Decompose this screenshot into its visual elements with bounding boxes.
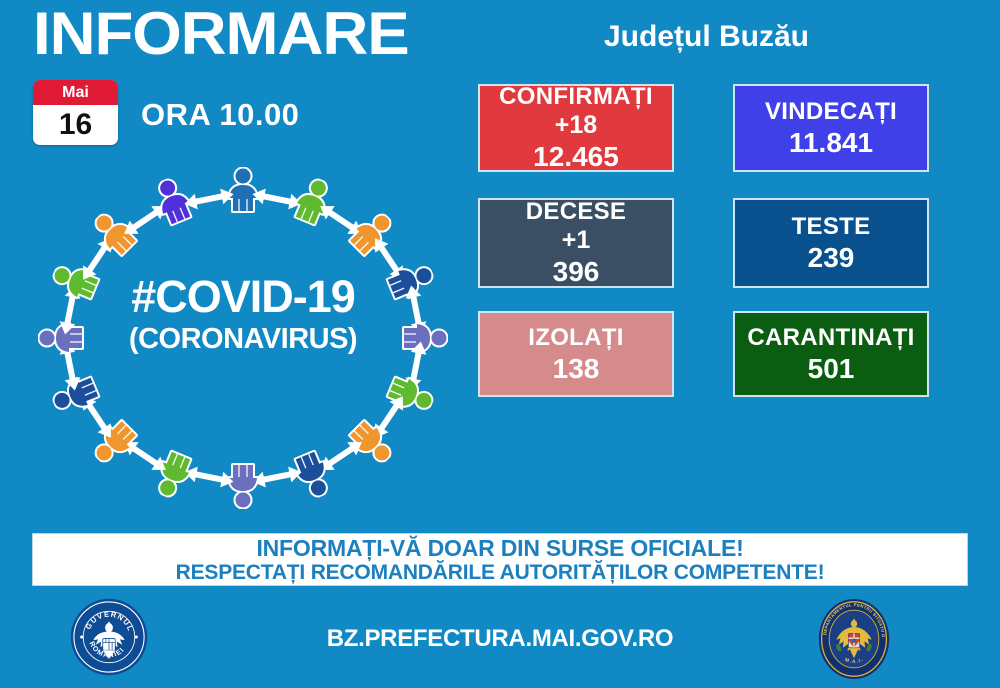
page-title: INFORMARE	[33, 2, 409, 66]
stat-value: 239	[808, 241, 855, 274]
stat-label: TESTE	[792, 213, 871, 241]
stat-value: 501	[808, 352, 855, 385]
stat-box-confirmai: CONFIRMAȚI+1812.465	[478, 84, 674, 172]
stat-label: DECESE	[526, 198, 627, 226]
infographic-canvas: INFORMARE Județul Buzău Mai 16 ORA 10.00…	[0, 0, 1000, 688]
guvernul-romaniei-logo: GUVERNUL ROMÂNIEI	[70, 598, 148, 676]
stat-label: VINDECAȚI	[765, 98, 897, 126]
stat-value: 12.465	[533, 140, 619, 173]
stat-box-vindecai: VINDECAȚI11.841	[733, 84, 929, 172]
covid-sub-text: (CORONAVIRUS)	[28, 322, 458, 356]
stat-delta: +18	[555, 111, 597, 140]
stat-value: 138	[553, 352, 600, 385]
stat-label: CONFIRMAȚI	[499, 83, 653, 111]
stat-box-izolai: IZOLAȚI138	[478, 311, 674, 397]
covid-circle-graphic: #COVID-19 (CORONAVIRUS)	[28, 168, 458, 508]
official-sources-banner: INFORMAȚI-VĂ DOAR DIN SURSE OFICIALE! RE…	[32, 533, 968, 586]
stat-box-teste: TESTE239	[733, 198, 929, 288]
calendar-icon: Mai 16	[33, 80, 118, 145]
stat-box-decese: DECESE+1396	[478, 198, 674, 288]
county-label: Județul Buzău	[604, 18, 809, 56]
calendar-month: Mai	[33, 80, 118, 105]
stat-label: CARANTINAȚI	[747, 324, 914, 352]
banner-line-2: RESPECTAȚI RECOMANDĂRILE AUTORITĂȚILOR C…	[176, 561, 825, 585]
stat-box-carantinai: CARANTINAȚI501	[733, 311, 929, 397]
stat-label: IZOLAȚI	[528, 324, 623, 352]
calendar-day: 16	[33, 105, 118, 145]
banner-line-1: INFORMAȚI-VĂ DOAR DIN SURSE OFICIALE!	[256, 535, 743, 561]
stat-value: 396	[553, 255, 600, 288]
stat-delta: +1	[562, 226, 591, 255]
hour-label: ORA 10.00	[141, 96, 299, 134]
stat-value: 11.841	[789, 126, 873, 159]
dsu-mai-logo: DEPARTAMENTUL PENTRU SITUAȚII DE URGENȚĂ…	[818, 598, 890, 680]
